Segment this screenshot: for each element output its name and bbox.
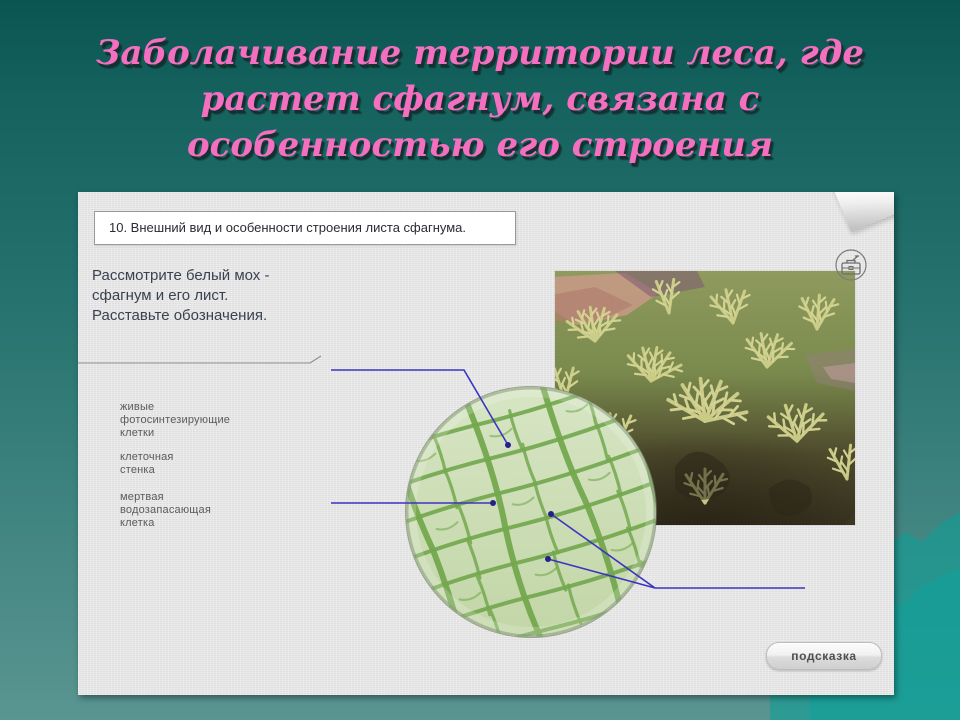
legend-label-living-cells: живые фотосинтезирующие клетки	[120, 401, 230, 440]
instruction-line-1: Рассмотрите белый мох -	[92, 266, 422, 286]
legend-label-3-line-3: клетка	[120, 517, 211, 530]
page-title-line-1: Заболачивание территории леса, где	[0, 30, 960, 76]
hint-button[interactable]: подсказка	[766, 642, 882, 670]
instruction-line-3: Расставьте обозначения.	[92, 306, 422, 326]
task-title-box: 10. Внешний вид и особенности строения л…	[94, 211, 516, 245]
legend-label-cell-wall: клеточная стенка	[120, 451, 174, 477]
microscope-toolbox-icon[interactable]	[834, 248, 868, 282]
page-title-line-2: растет сфагнум, связана с	[0, 76, 960, 122]
hint-button-label: подсказка	[791, 649, 856, 663]
page-fold-corner-icon	[832, 192, 894, 244]
legend-label-2-line-2: стенка	[120, 464, 174, 477]
legend-label-dead-water-cell: мертвая водозапасающая клетка	[120, 491, 211, 530]
page-title-line-3: особенностью его строения	[0, 122, 960, 168]
task-title-text: 10. Внешний вид и особенности строения л…	[109, 220, 466, 235]
lesson-content-panel: 10. Внешний вид и особенности строения л…	[78, 192, 894, 695]
slide-canvas: Заболачивание территории леса, где расте…	[0, 0, 960, 720]
sphagnum-leaf-cells-micrograph	[406, 387, 656, 637]
legend-label-3-line-1: мертвая	[120, 491, 211, 504]
legend-label-3-line-2: водозапасающая	[120, 504, 211, 517]
section-divider	[78, 354, 328, 368]
legend-label-1-line-1: живые	[120, 401, 230, 414]
instruction-text: Рассмотрите белый мох - сфагнум и его ли…	[92, 266, 422, 326]
legend-label-1-line-2: фотосинтезирующие	[120, 414, 230, 427]
legend-label-2-line-1: клеточная	[120, 451, 174, 464]
instruction-line-2: сфагнум и его лист.	[92, 286, 422, 306]
legend-label-1-line-3: клетки	[120, 427, 230, 440]
page-title: Заболачивание территории леса, где расте…	[0, 30, 960, 168]
